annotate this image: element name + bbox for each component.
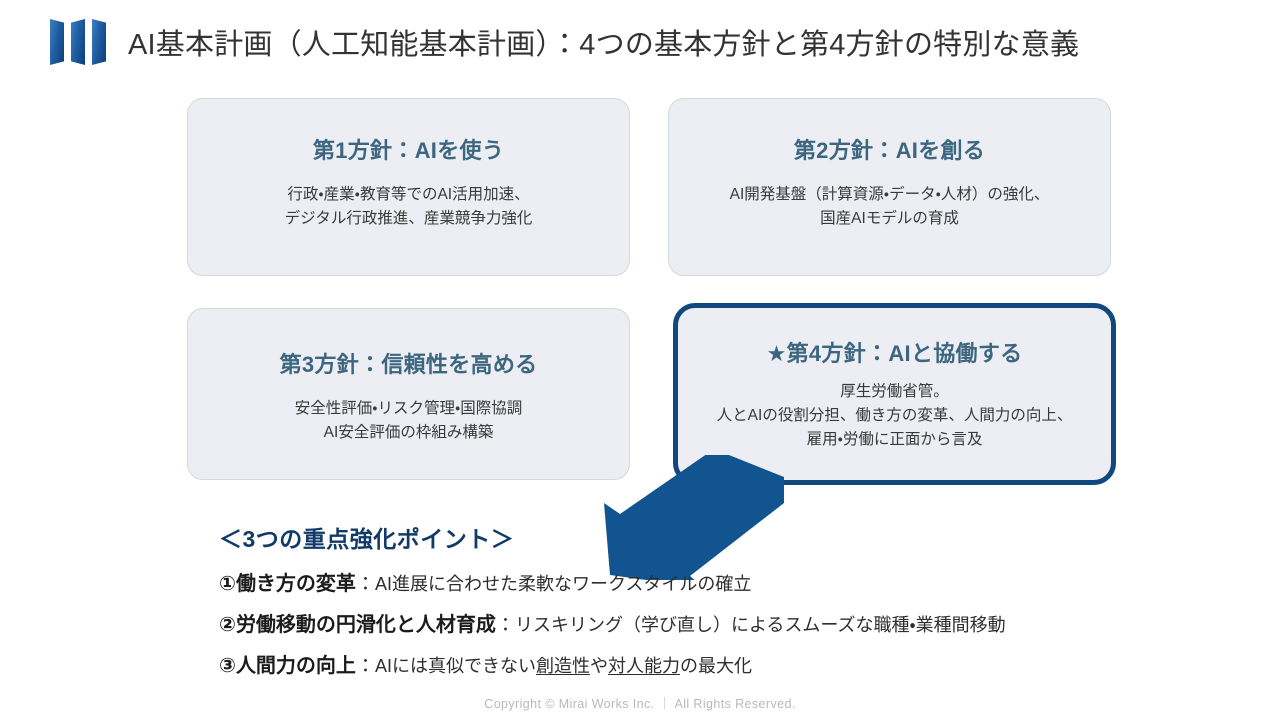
- policy-card-3: 第3方針：信頼性を高める 安全性評価・リスク管理・国際協調 AI安全評価の枠組み…: [187, 308, 630, 480]
- key-point-2-description: リスキリング（学び直し）によるスムーズな職種・業種間移動: [515, 615, 1006, 635]
- key-point-1-description: AI進展に合わせた柔軟なワークスタイルの確立: [375, 574, 751, 594]
- policy-card-2-body-line: AI開発基盤（計算資源・データ・人材）の強化、: [669, 183, 1110, 207]
- policy-card-4-body: 厚生労働省管。 人とAIの役割分担、働き方の変革、人間力の向上、 雇用・労働に正…: [678, 380, 1111, 452]
- policy-card-2-body: AI開発基盤（計算資源・データ・人材）の強化、 国産AIモデルの育成: [669, 183, 1110, 231]
- logo-bar-2: [71, 19, 85, 65]
- key-point-3-description-mid: や: [590, 656, 608, 676]
- key-point-3-separator: ：: [356, 656, 375, 677]
- key-point-1-number: ①: [219, 573, 236, 595]
- key-point-2-label: 労働移動の円滑化と人材育成: [236, 614, 496, 636]
- policy-card-1-body-line: 行政・産業・教育等でのAI活用加速、: [188, 183, 629, 207]
- policy-card-4-body-line: 雇用・労働に正面から言及: [678, 428, 1111, 452]
- key-point-item-3: ③人間力の向上：AIには真似できない創造性や対人能力の最大化: [219, 654, 1239, 679]
- three-bars-logo-icon: [50, 19, 106, 65]
- policy-card-3-body-line: 安全性評価・リスク管理・国際協調: [188, 397, 629, 421]
- policy-card-1-body: 行政・産業・教育等でのAI活用加速、 デジタル行政推進、産業競争力強化: [188, 183, 629, 231]
- key-point-3-underline-2: 対人能力: [608, 656, 680, 676]
- page-title: AI基本計画（人工知能基本計画）：4つの基本方針と第4方針の特別な意義: [128, 21, 1079, 63]
- key-point-1-label: 働き方の変革: [236, 573, 356, 595]
- policy-card-4-title: ★第4方針：AIと協働する: [678, 336, 1111, 368]
- key-point-3-underline-1: 創造性: [536, 656, 590, 676]
- policy-card-1-title: 第1方針：AIを使う: [188, 133, 629, 165]
- key-point-3-label: 人間力の向上: [236, 655, 356, 677]
- page-header: AI基本計画（人工知能基本計画）：4つの基本方針と第4方針の特別な意義: [0, 0, 1280, 84]
- policy-card-4-body-line: 厚生労働省管。: [678, 380, 1111, 404]
- key-point-2-number: ②: [219, 614, 236, 636]
- policy-card-4-body-line: 人とAIの役割分担、働き方の変革、人間力の向上、: [678, 404, 1111, 428]
- key-point-2-separator: ：: [496, 615, 515, 636]
- key-point-3-description-post: の最大化: [680, 656, 752, 676]
- policy-card-3-body-line: AI安全評価の枠組み構築: [188, 421, 629, 445]
- policy-card-2: 第2方針：AIを創る AI開発基盤（計算資源・データ・人材）の強化、 国産AIモ…: [668, 98, 1111, 276]
- key-point-item-2: ②労働移動の円滑化と人材育成：リスキリング（学び直し）によるスムーズな職種・業種…: [219, 613, 1239, 638]
- policy-card-2-title: 第2方針：AIを創る: [669, 133, 1110, 165]
- logo-bar-1: [50, 19, 64, 65]
- key-point-1-separator: ：: [356, 574, 375, 595]
- key-point-item-1: ①働き方の変革：AI進展に合わせた柔軟なワークスタイルの確立: [219, 572, 1239, 597]
- policy-card-3-body: 安全性評価・リスク管理・国際協調 AI安全評価の枠組み構築: [188, 397, 629, 445]
- key-points-heading: ＜3つの重点強化ポイント＞: [219, 520, 1239, 554]
- policy-card-2-body-line: 国産AIモデルの育成: [669, 207, 1110, 231]
- footer-copyright: Copyright © Mirai Works Inc. ｜ All Right…: [0, 693, 1280, 712]
- key-point-3-description-pre: AIには真似できない: [375, 656, 536, 676]
- policy-card-1: 第1方針：AIを使う 行政・産業・教育等でのAI活用加速、 デジタル行政推進、産…: [187, 98, 630, 276]
- key-points-section: ＜3つの重点強化ポイント＞ ①働き方の変革：AI進展に合わせた柔軟なワークスタイ…: [219, 520, 1239, 694]
- logo-bar-3: [92, 19, 106, 65]
- policy-card-1-body-line: デジタル行政推進、産業競争力強化: [188, 207, 629, 231]
- policy-card-3-title: 第3方針：信頼性を高める: [188, 347, 629, 379]
- key-point-3-number: ③: [219, 655, 236, 677]
